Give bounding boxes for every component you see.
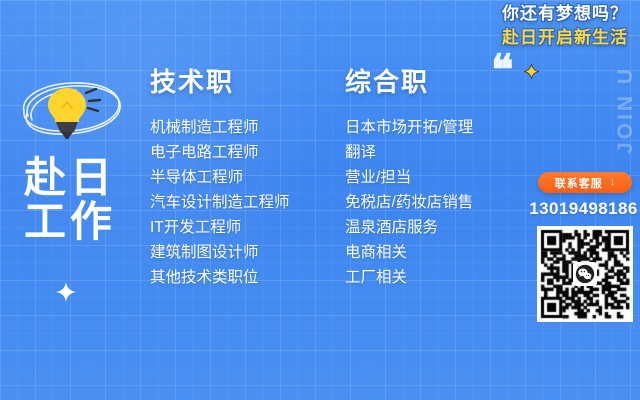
list-item: 建筑制图设计师 xyxy=(150,240,290,265)
quote-mark-icon: ❝ xyxy=(491,50,514,92)
brand-title-line-1: 赴日 xyxy=(0,156,140,200)
qr-code[interactable] xyxy=(537,226,633,322)
job-list-technical: 机械制造工程师 电子电路工程师 半导体工程师 汽车设计制造工程师 IT开发工程师… xyxy=(150,115,290,290)
job-column-general: 综合职 日本市场开拓/管理 翻译 营业/担当 免税店/药妆店销售 温泉酒店服务 … xyxy=(345,62,473,290)
list-item: 温泉酒店服务 xyxy=(345,215,473,240)
headline-block: 你还有梦想吗？ 赴日开启新生活 xyxy=(502,4,628,47)
job-column-technical: 技术职 机械制造工程师 电子电路工程师 半导体工程师 汽车设计制造工程师 IT开… xyxy=(150,62,290,290)
list-item: 免税店/药妆店销售 xyxy=(345,190,473,215)
list-item: 日本市场开拓/管理 xyxy=(345,115,473,140)
list-item: 机械制造工程师 xyxy=(150,115,290,140)
contact-support-button[interactable]: 联系客服 ↓ xyxy=(538,172,632,193)
column-heading-technical: 技术职 xyxy=(150,62,290,99)
wechat-icon xyxy=(573,262,597,286)
list-item: 其他技术类职位 xyxy=(150,265,290,290)
list-item: 营业/担当 xyxy=(345,165,473,190)
list-item: 翻译 xyxy=(345,140,473,165)
sparkle-icon xyxy=(56,282,76,302)
brand-block: 赴日 工作 xyxy=(0,72,140,244)
vertical-join-text: JOIN U xyxy=(614,66,638,154)
phone-number[interactable]: 13019498186 xyxy=(527,199,640,219)
list-item: 汽车设计制造工程师 xyxy=(150,190,290,215)
lightbulb-icon xyxy=(10,72,130,142)
star-icon xyxy=(524,64,539,79)
list-item: 电子电路工程师 xyxy=(150,140,290,165)
list-item: 工厂相关 xyxy=(345,265,473,290)
poster-canvas: 你还有梦想吗？ 赴日开启新生活 xyxy=(0,0,640,400)
list-item: 半导体工程师 xyxy=(150,165,290,190)
list-item: IT开发工程师 xyxy=(150,215,290,240)
contact-button-label: 联系客服 xyxy=(555,175,603,191)
headline-line-2: 赴日开启新生活 xyxy=(502,28,628,47)
job-list-general: 日本市场开拓/管理 翻译 营业/担当 免税店/药妆店销售 温泉酒店服务 电商相关… xyxy=(345,115,473,290)
headline-line-1: 你还有梦想吗？ xyxy=(502,4,628,23)
brand-title-line-2: 工作 xyxy=(0,200,140,244)
list-item: 电商相关 xyxy=(345,240,473,265)
column-heading-general: 综合职 xyxy=(345,62,473,99)
brand-title: 赴日 工作 xyxy=(0,156,140,244)
arrow-down-icon: ↓ xyxy=(610,177,616,188)
